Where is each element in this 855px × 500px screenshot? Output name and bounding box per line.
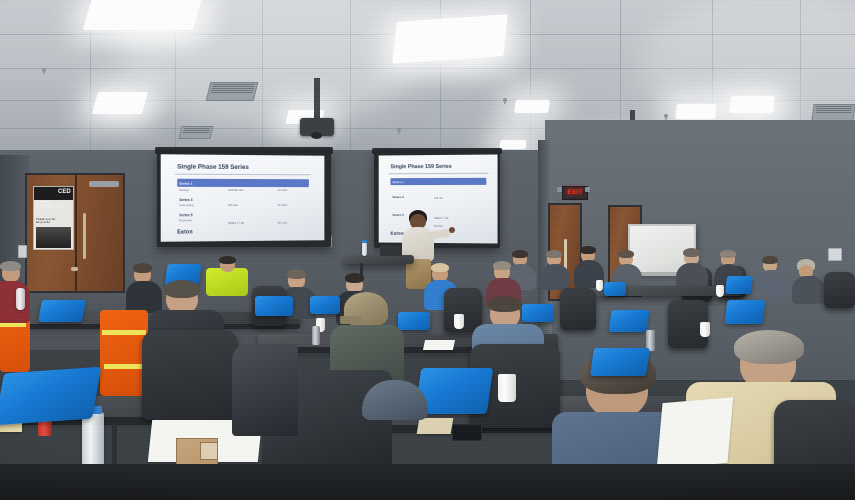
hair xyxy=(219,256,236,264)
sprinkler-head-3 xyxy=(397,128,401,132)
bag-mid-5 xyxy=(398,312,430,330)
slide-row-1-col3: 22 kAIC xyxy=(278,203,288,207)
hair xyxy=(762,256,778,264)
cup-mid-3 xyxy=(700,322,710,337)
cup-back-2 xyxy=(596,280,603,291)
cup-back-1 xyxy=(716,285,724,297)
presenter-hand xyxy=(449,227,455,233)
bag-mid-3 xyxy=(255,296,293,316)
slide-row-0-label: Series 1 xyxy=(179,182,192,186)
torso xyxy=(126,281,162,313)
hair xyxy=(133,263,152,273)
slide-header-bar-right xyxy=(390,178,486,185)
slide-row-1-sub: Interrupting xyxy=(179,203,193,207)
hair xyxy=(0,261,21,271)
hair xyxy=(488,296,522,312)
slide-row-2-label: Series 5 xyxy=(179,213,192,217)
exit-sign-bracket-right xyxy=(585,187,590,192)
water-bottle-front xyxy=(82,412,104,470)
slide-right-row-2-label: Series 5 xyxy=(392,213,403,217)
papers-front-center xyxy=(417,418,454,434)
torso xyxy=(756,270,787,298)
slide-right-row-0-label: Series 1 xyxy=(392,180,403,184)
torso xyxy=(0,281,30,323)
chair-mid-3 xyxy=(560,288,596,330)
phone-on-table xyxy=(452,424,482,441)
chair-front-left-2 xyxy=(142,330,238,420)
light-switch-plate[interactable] xyxy=(18,245,27,258)
vest-stripe-2 xyxy=(104,364,144,369)
hivis-jacket xyxy=(206,268,248,296)
classroom-photo: WORKER APPRECIATION DAY CED Thank you fo… xyxy=(0,0,855,500)
hair xyxy=(287,269,306,279)
bag-front-1 xyxy=(0,367,101,426)
hair xyxy=(546,250,562,258)
hair xyxy=(734,330,804,364)
slide-header-bar xyxy=(177,179,309,187)
slide-row-2-col3: 65 kAIC xyxy=(278,221,288,225)
slide-row-1-label: Series 3 xyxy=(179,198,192,202)
presenter-water-bottle xyxy=(362,242,367,256)
hair xyxy=(683,248,700,257)
vest-stripe-1 xyxy=(102,330,146,335)
air-vent-1 xyxy=(206,82,259,101)
paper-mid-1 xyxy=(423,340,455,350)
slide-row-0-col2: 120/240 Vac xyxy=(228,188,244,192)
jacket-draped-right xyxy=(232,344,298,436)
light-glow-3 xyxy=(378,8,538,86)
exit-sign-text: EXIT xyxy=(567,190,582,196)
poster-headline: WORKER APPRECIATION DAY xyxy=(35,201,55,212)
sprinkler-head-1 xyxy=(42,68,46,72)
cup-front-1 xyxy=(498,374,516,402)
hivis-vest-on-chair xyxy=(100,310,148,396)
slide-row-0-sub: Ratings xyxy=(179,188,189,192)
bag-mid-2 xyxy=(38,300,86,322)
bag-back-2 xyxy=(604,282,626,296)
torso xyxy=(540,264,570,290)
torso xyxy=(792,276,825,304)
cap-brim xyxy=(340,316,362,324)
thermostat[interactable] xyxy=(828,248,842,261)
poster-brand-ced: CED xyxy=(58,189,71,195)
bag-mid-7 xyxy=(608,310,649,332)
ceiling-light-6 xyxy=(675,104,717,119)
bag-mid-8 xyxy=(725,300,766,324)
slide-right-row-1-label: Series 3 xyxy=(392,195,403,199)
slide-right-row-2-col2: NEMA 1 / 3R xyxy=(434,217,448,220)
slide-row-1-col2: 240 Vac xyxy=(228,203,238,207)
hair xyxy=(580,246,596,254)
hair xyxy=(164,280,200,298)
bag-front-3 xyxy=(590,348,650,376)
light-glow-2 xyxy=(80,86,166,126)
poster-sub: Thank you for all you do xyxy=(36,218,56,224)
bottle-cap-presenter xyxy=(362,240,367,243)
slide-right-row-2-col3: 65 kAIC xyxy=(434,225,443,228)
chair-far-3 xyxy=(824,272,855,308)
screen-left: Single Phase 159 Series Series 1 Ratings… xyxy=(161,154,325,242)
exit-sign-bracket-left xyxy=(557,187,562,192)
ceiling-light-5 xyxy=(514,100,550,113)
bag-back-1 xyxy=(725,276,753,294)
presenter-laptop xyxy=(380,245,402,256)
bag-mid-6 xyxy=(522,304,554,322)
cardboard-box-flap xyxy=(200,442,218,460)
tumbler-mid-1 xyxy=(312,326,320,345)
hair xyxy=(618,250,634,258)
hair xyxy=(431,263,449,272)
cup-mid-2 xyxy=(454,314,464,329)
hair xyxy=(720,250,736,258)
sprinkler-head-4 xyxy=(664,114,668,118)
sprinkler-head-2 xyxy=(503,98,507,102)
slide-title-right: Single Phase 159 Series xyxy=(390,164,451,170)
poster-ced: WORKER APPRECIATION DAY CED Thank you fo… xyxy=(33,186,74,250)
hair xyxy=(493,261,511,270)
slide-row-2-sub: Enclosure xyxy=(179,218,192,222)
hair xyxy=(512,250,528,258)
slide-row-0-col3: 10 kAIC xyxy=(278,188,288,192)
table-front-left-leg xyxy=(112,424,117,464)
hair xyxy=(345,273,364,283)
bag-mid-4 xyxy=(310,296,340,314)
slide-title: Single Phase 159 Series xyxy=(177,164,249,172)
air-vent-2 xyxy=(178,126,213,139)
slide-right-row-1-col2: 240 Vac xyxy=(434,197,443,200)
slide-logo-eaton: Eaton xyxy=(177,229,193,235)
slide-row-2-col2: NEMA 1 / 3R xyxy=(228,221,244,225)
podium-table xyxy=(344,255,414,264)
handout-foreground-right xyxy=(657,397,734,469)
ceiling-light-10 xyxy=(499,140,526,149)
water-bottle-far-left xyxy=(16,288,25,310)
floor xyxy=(0,464,855,500)
